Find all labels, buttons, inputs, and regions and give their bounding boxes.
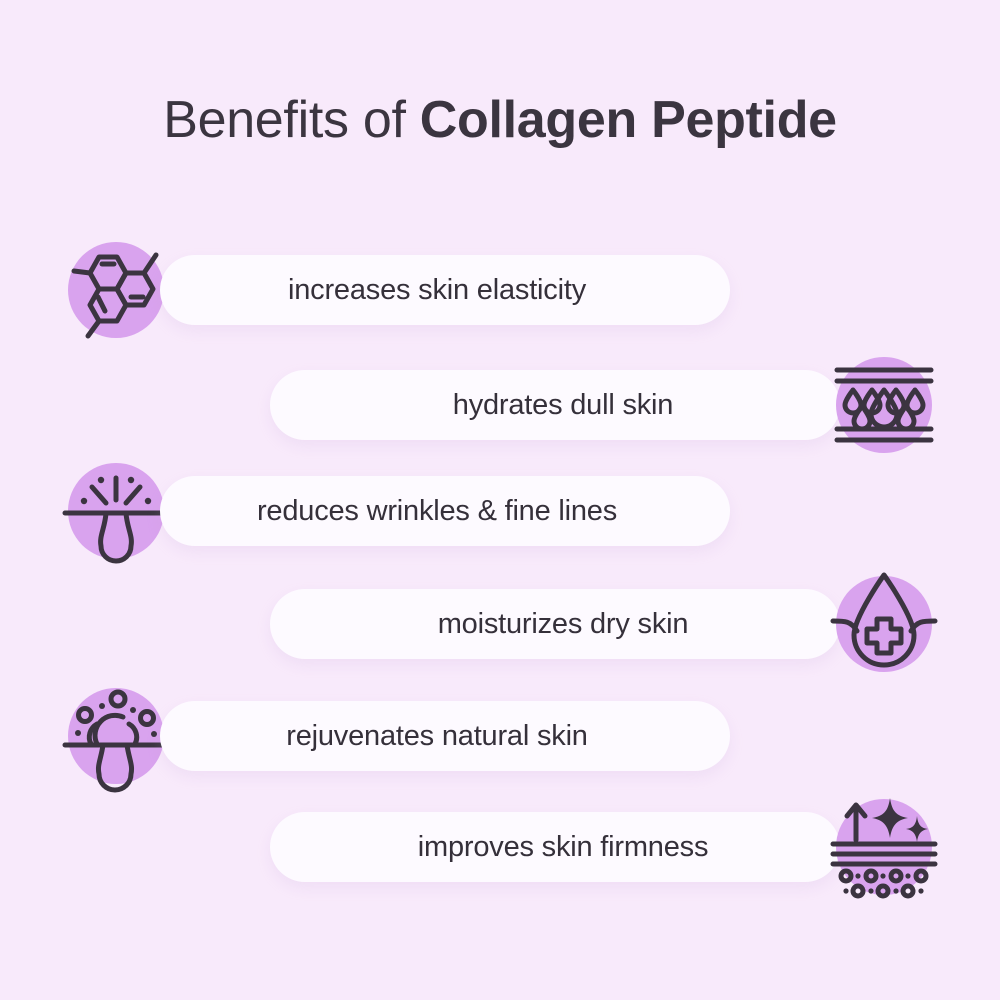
collagen-molecule-icon <box>68 242 164 338</box>
benefit-label: rejuvenates natural skin <box>286 720 587 753</box>
collagen-molecule-glyph <box>61 235 171 345</box>
benefit-pill[interactable]: reduces wrinkles & fine lines <box>160 476 730 546</box>
title-bold-part: Collagen Peptide <box>420 91 837 149</box>
benefit-row[interactable]: reduces wrinkles & fine lines <box>0 455 1000 567</box>
benefit-row[interactable]: hydrates dull skin <box>0 349 1000 461</box>
benefit-row[interactable]: rejuvenates natural skin <box>0 680 1000 792</box>
wrinkle-reduction-glyph <box>61 456 171 566</box>
firmness-glyph <box>829 792 939 902</box>
hydration-droplets-glyph <box>829 350 939 460</box>
benefit-label: hydrates dull skin <box>453 389 673 422</box>
benefit-row[interactable]: increases skin elasticity <box>0 234 1000 346</box>
benefit-label: moisturizes dry skin <box>438 608 689 641</box>
water-droplets-skin-layers-icon <box>836 357 932 453</box>
benefit-row[interactable]: improves skin firmness <box>0 791 1000 903</box>
title-light-part: Benefits of <box>163 91 420 149</box>
benefit-pill[interactable]: moisturizes dry skin <box>270 589 840 659</box>
benefit-label: reduces wrinkles & fine lines <box>257 495 617 528</box>
moisturize-droplet-glyph <box>829 569 939 679</box>
benefit-pill[interactable]: increases skin elasticity <box>160 255 730 325</box>
benefit-label: improves skin firmness <box>418 831 709 864</box>
infographic-canvas: Benefits of Collagen Peptide increases s… <box>0 0 1000 1000</box>
benefit-pill[interactable]: hydrates dull skin <box>270 370 840 440</box>
droplet-plus-icon <box>836 576 932 672</box>
benefit-row[interactable]: moisturizes dry skin <box>0 568 1000 680</box>
skin-pore-rays-icon <box>68 463 164 559</box>
rejuvenation-glyph <box>61 681 171 791</box>
benefit-pill[interactable]: improves skin firmness <box>270 812 840 882</box>
benefit-pill[interactable]: rejuvenates natural skin <box>160 701 730 771</box>
pore-cells-icon <box>68 688 164 784</box>
page-title: Benefits of Collagen Peptide <box>0 90 1000 150</box>
arrow-up-sparkle-skin-layers-icon <box>836 799 932 895</box>
benefit-label: increases skin elasticity <box>288 274 586 307</box>
